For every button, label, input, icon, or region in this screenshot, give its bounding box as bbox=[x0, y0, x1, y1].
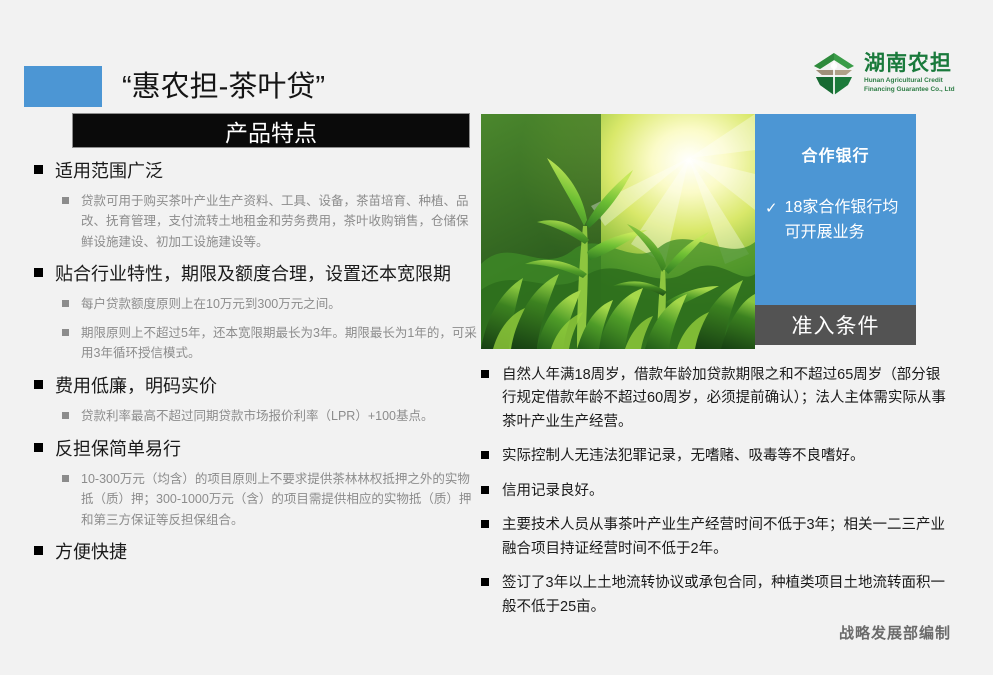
feature-detail-row: 贷款可用于购买茶叶产业生产资料、工具、设备，茶苗培育、种植、品改、抚育管理，支付… bbox=[62, 191, 479, 252]
tea-plantation-photo bbox=[481, 114, 755, 349]
square-bullet-icon bbox=[34, 165, 43, 174]
logo-leaf-icon bbox=[812, 51, 856, 97]
square-bullet-icon bbox=[62, 412, 69, 419]
list-item: 方便快捷 bbox=[34, 539, 479, 565]
left-content-list: 适用范围广泛 贷款可用于购买茶叶产业生产资料、工具、设备，茶苗培育、种植、品改、… bbox=[34, 158, 479, 569]
square-bullet-icon bbox=[481, 520, 489, 528]
list-item: 主要技术人员从事茶叶产业生产经营时间不低于3年；相关一二三产业融合项目持证经营时… bbox=[481, 514, 951, 561]
square-bullet-icon bbox=[62, 329, 69, 336]
company-logo: 湖南农担 Hunan Agricultural Credit Financing… bbox=[812, 50, 984, 98]
feature-heading-row: 方便快捷 bbox=[34, 539, 479, 565]
partner-banks-body: ✓ 18家合作银行均可开展业务 bbox=[765, 196, 910, 246]
feature-heading-row: 适用范围广泛 bbox=[34, 158, 479, 184]
title-accent-rect bbox=[24, 66, 102, 107]
feature-detail-row: 10-300万元（均含）的项目原则上不要求提供茶林林权抵押之外的实物抵（质）押；… bbox=[62, 469, 479, 530]
condition-text: 签订了3年以上土地流转协议或承包合同，种植类项目土地流转面积一般不低于25亩。 bbox=[502, 572, 951, 619]
list-item: 签订了3年以上土地流转协议或承包合同，种植类项目土地流转面积一般不低于25亩。 bbox=[481, 572, 951, 619]
list-item: 反担保简单易行 10-300万元（均含）的项目原则上不要求提供茶林林权抵押之外的… bbox=[34, 436, 479, 530]
feature-heading-row: 贴合行业特性，期限及额度合理，设置还本宽限期 bbox=[34, 261, 479, 287]
feature-heading-row: 费用低廉，明码实价 bbox=[34, 373, 479, 399]
feature-detail: 贷款利率最高不超过同期贷款市场报价利率（LPR）+100基点。 bbox=[81, 406, 433, 426]
right-content-list: 自然人年满18周岁，借款年龄加贷款期限之和不超过65周岁（部分银行规定借款年龄不… bbox=[481, 364, 951, 630]
square-bullet-icon bbox=[34, 443, 43, 452]
logo-name-en-line1: Hunan Agricultural Credit bbox=[864, 77, 955, 86]
feature-heading: 方便快捷 bbox=[55, 539, 127, 565]
partner-banks-card: 合作银行 ✓ 18家合作银行均可开展业务 bbox=[755, 114, 916, 305]
square-bullet-icon bbox=[481, 578, 489, 586]
list-item: 自然人年满18周岁，借款年龄加贷款期限之和不超过65周岁（部分银行规定借款年龄不… bbox=[481, 364, 951, 434]
condition-text: 自然人年满18周岁，借款年龄加贷款期限之和不超过65周岁（部分银行规定借款年龄不… bbox=[502, 364, 951, 434]
square-bullet-icon bbox=[62, 197, 69, 204]
condition-text: 信用记录良好。 bbox=[502, 480, 604, 503]
feature-heading: 贴合行业特性，期限及额度合理，设置还本宽限期 bbox=[55, 261, 451, 287]
list-item: 贴合行业特性，期限及额度合理，设置还本宽限期 每户贷款额度原则上在10万元到30… bbox=[34, 261, 479, 364]
logo-name-en-line2: Financing Guarantee Co., Ltd bbox=[864, 86, 955, 95]
list-item: 实际控制人无违法犯罪记录，无嗜赌、吸毒等不良嗜好。 bbox=[481, 445, 951, 468]
slide-canvas: “惠农担-茶叶贷” 湖南农担 Hunan Agricultural Credit… bbox=[0, 0, 993, 675]
feature-heading: 费用低廉，明码实价 bbox=[55, 373, 217, 399]
square-bullet-icon bbox=[481, 486, 489, 494]
logo-name-cn: 湖南农担 bbox=[864, 53, 955, 74]
square-bullet-icon bbox=[62, 475, 69, 482]
feature-heading: 适用范围广泛 bbox=[55, 158, 163, 184]
list-item: 适用范围广泛 贷款可用于购买茶叶产业生产资料、工具、设备，茶苗培育、种植、品改、… bbox=[34, 158, 479, 252]
footer-note: 战略发展部编制 bbox=[0, 622, 951, 643]
partner-banks-text: 18家合作银行均可开展业务 bbox=[785, 196, 910, 246]
square-bullet-icon bbox=[34, 546, 43, 555]
page-title: “惠农担-茶叶贷” bbox=[122, 63, 325, 105]
feature-detail: 每户贷款额度原则上在10万元到300万元之间。 bbox=[81, 294, 341, 314]
feature-detail: 贷款可用于购买茶叶产业生产资料、工具、设备，茶苗培育、种植、品改、抚育管理，支付… bbox=[81, 191, 479, 252]
feature-detail-row: 每户贷款额度原则上在10万元到300万元之间。 bbox=[62, 294, 479, 314]
condition-text: 实际控制人无违法犯罪记录，无嗜赌、吸毒等不良嗜好。 bbox=[502, 445, 865, 468]
feature-detail-row: 期限原则上不超过5年，还本宽限期最长为3年。期限最长为1年的，可采用3年循环授信… bbox=[62, 323, 479, 364]
feature-detail-row: 贷款利率最高不超过同期贷款市场报价利率（LPR）+100基点。 bbox=[62, 406, 479, 426]
square-bullet-icon bbox=[481, 370, 489, 378]
partner-banks-title: 合作银行 bbox=[755, 142, 916, 166]
square-bullet-icon bbox=[481, 451, 489, 459]
square-bullet-icon bbox=[34, 380, 43, 389]
condition-text: 主要技术人员从事茶叶产业生产经营时间不低于3年；相关一二三产业融合项目持证经营时… bbox=[502, 514, 951, 561]
feature-heading-row: 反担保简单易行 bbox=[34, 436, 479, 462]
section-header-product-features: 产品特点 bbox=[72, 113, 470, 148]
feature-detail: 10-300万元（均含）的项目原则上不要求提供茶林林权抵押之外的实物抵（质）押；… bbox=[81, 469, 479, 530]
square-bullet-icon bbox=[62, 300, 69, 307]
check-icon: ✓ bbox=[765, 201, 778, 216]
section-header-entry-conditions: 准入条件 bbox=[755, 305, 916, 345]
list-item: 信用记录良好。 bbox=[481, 480, 951, 503]
list-item: 费用低廉，明码实价 贷款利率最高不超过同期贷款市场报价利率（LPR）+100基点… bbox=[34, 373, 479, 426]
feature-heading: 反担保简单易行 bbox=[55, 436, 181, 462]
feature-detail: 期限原则上不超过5年，还本宽限期最长为3年。期限最长为1年的，可采用3年循环授信… bbox=[81, 323, 479, 364]
square-bullet-icon bbox=[34, 268, 43, 277]
